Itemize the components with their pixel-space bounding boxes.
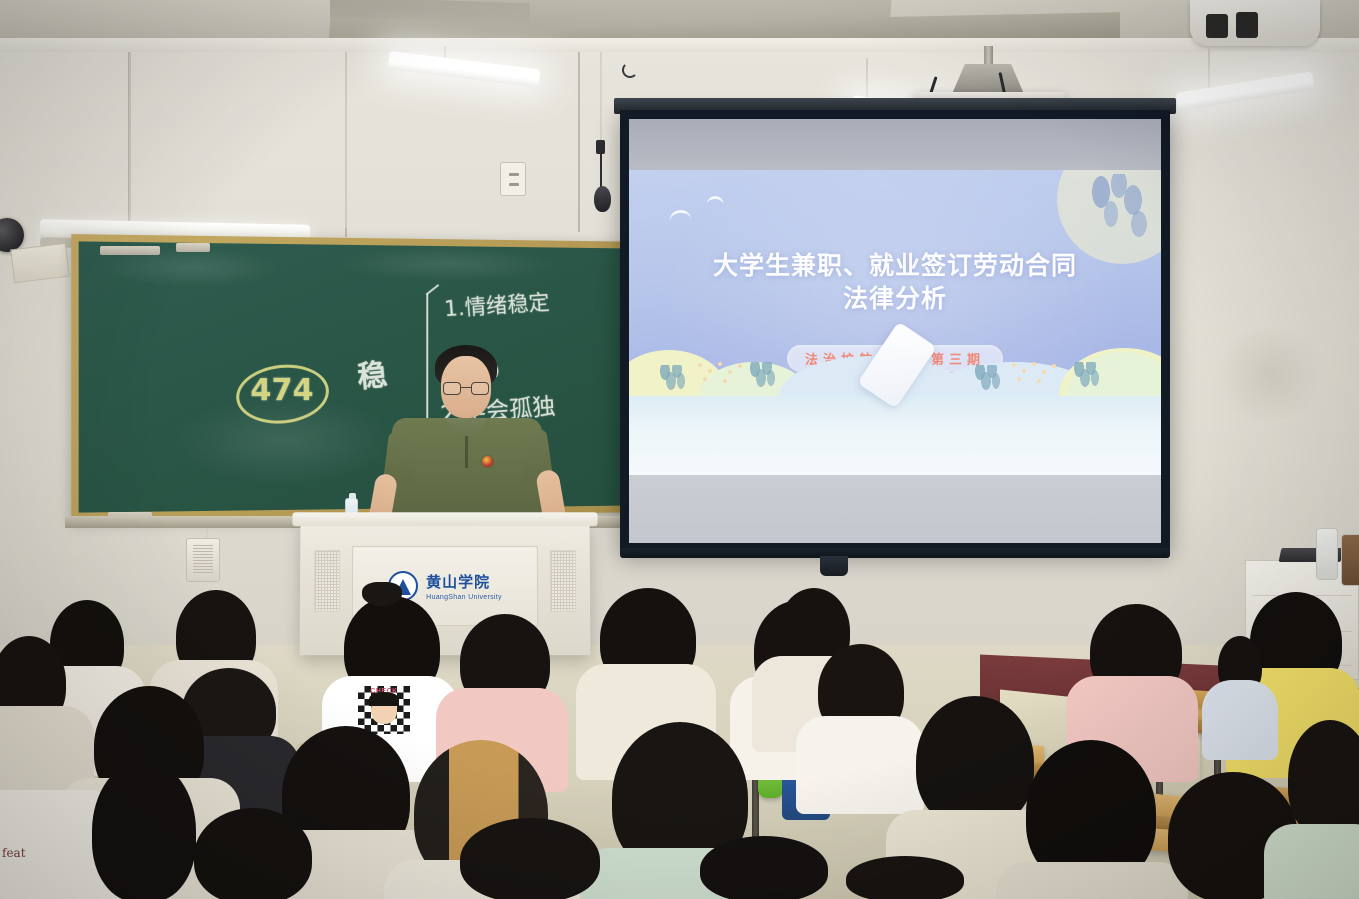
light-rod (1208, 46, 1210, 90)
thermos-bottle (1341, 534, 1359, 586)
slide-title-line2: 法律分析 (629, 282, 1161, 315)
screen-weight-tab (820, 556, 848, 576)
hanging-microphone (594, 186, 611, 212)
lectern-podium: 黄山学院 HuangShan University (300, 520, 591, 655)
mic-clip (596, 140, 605, 154)
power-outlet (500, 162, 526, 196)
presentation-slide: 大学生兼职、就业签订劳动合同 法律分析 法治护航微课堂第三期 👤 主讲人：吴伟航… (629, 170, 1161, 475)
chalk-piece (100, 246, 160, 255)
decor-plant-icon (1073, 362, 1103, 390)
ceiling-hook (622, 62, 638, 78)
chalk-item-1: 1.情绪稳定 (443, 285, 551, 323)
classroom-photo: 474 稳 1.情绪稳定 (适应) 2.学会孤独 大学生兼职、就业签订劳动 (0, 0, 1359, 899)
slide-title: 大学生兼职、就业签订劳动合同 法律分析 (629, 249, 1161, 315)
shirt-text: feat (2, 846, 26, 860)
chalk-piece (176, 243, 210, 252)
light-rod (345, 52, 347, 228)
decor-plant-icon (974, 365, 1004, 393)
party-emblem-pin-icon (482, 456, 493, 467)
tee-face-illustration (371, 696, 397, 724)
university-logo: 黄山学院 HuangShan University (388, 571, 502, 601)
wall-speaker (186, 538, 220, 582)
chalk-keyword: 稳 (355, 350, 389, 396)
screen-blank-top (629, 119, 1161, 170)
eyeglasses-icon (443, 382, 489, 395)
podium-top-surface (292, 512, 597, 526)
decor-dots (1009, 361, 1065, 387)
wall-stain (1210, 330, 1330, 420)
projection-screen: 大学生兼职、就业签订劳动合同 法律分析 法治护航微课堂第三期 👤 主讲人：吴伟航… (620, 110, 1170, 552)
mic-cable (600, 154, 602, 190)
screen-surface: 大学生兼职、就业签订劳动合同 法律分析 法治护航微课堂第三期 👤 主讲人：吴伟航… (629, 119, 1161, 543)
screen-bottom-bar (620, 548, 1170, 558)
decor-plant-icon (659, 365, 689, 393)
podium-speaker-grille (550, 550, 576, 612)
university-name-cn: 黄山学院 (426, 571, 502, 592)
wall-plaque (10, 243, 70, 284)
decor-plant-icon (749, 362, 779, 390)
light-rod (129, 52, 131, 228)
wall-top-band (0, 38, 1359, 52)
thermos-bottle (1316, 528, 1338, 580)
mic-cable (600, 52, 602, 144)
wall-seam (578, 52, 580, 232)
chalk-number: 474 (250, 373, 313, 408)
air-conditioner (1190, 0, 1320, 46)
screen-blank-bottom (629, 475, 1161, 543)
university-name-en: HuangShan University (426, 594, 502, 601)
slide-title-line1: 大学生兼职、就业签订劳动合同 (713, 251, 1077, 280)
speaker-placket (465, 436, 468, 468)
podium-speaker-grille (314, 550, 340, 612)
decor-dots (695, 361, 751, 387)
